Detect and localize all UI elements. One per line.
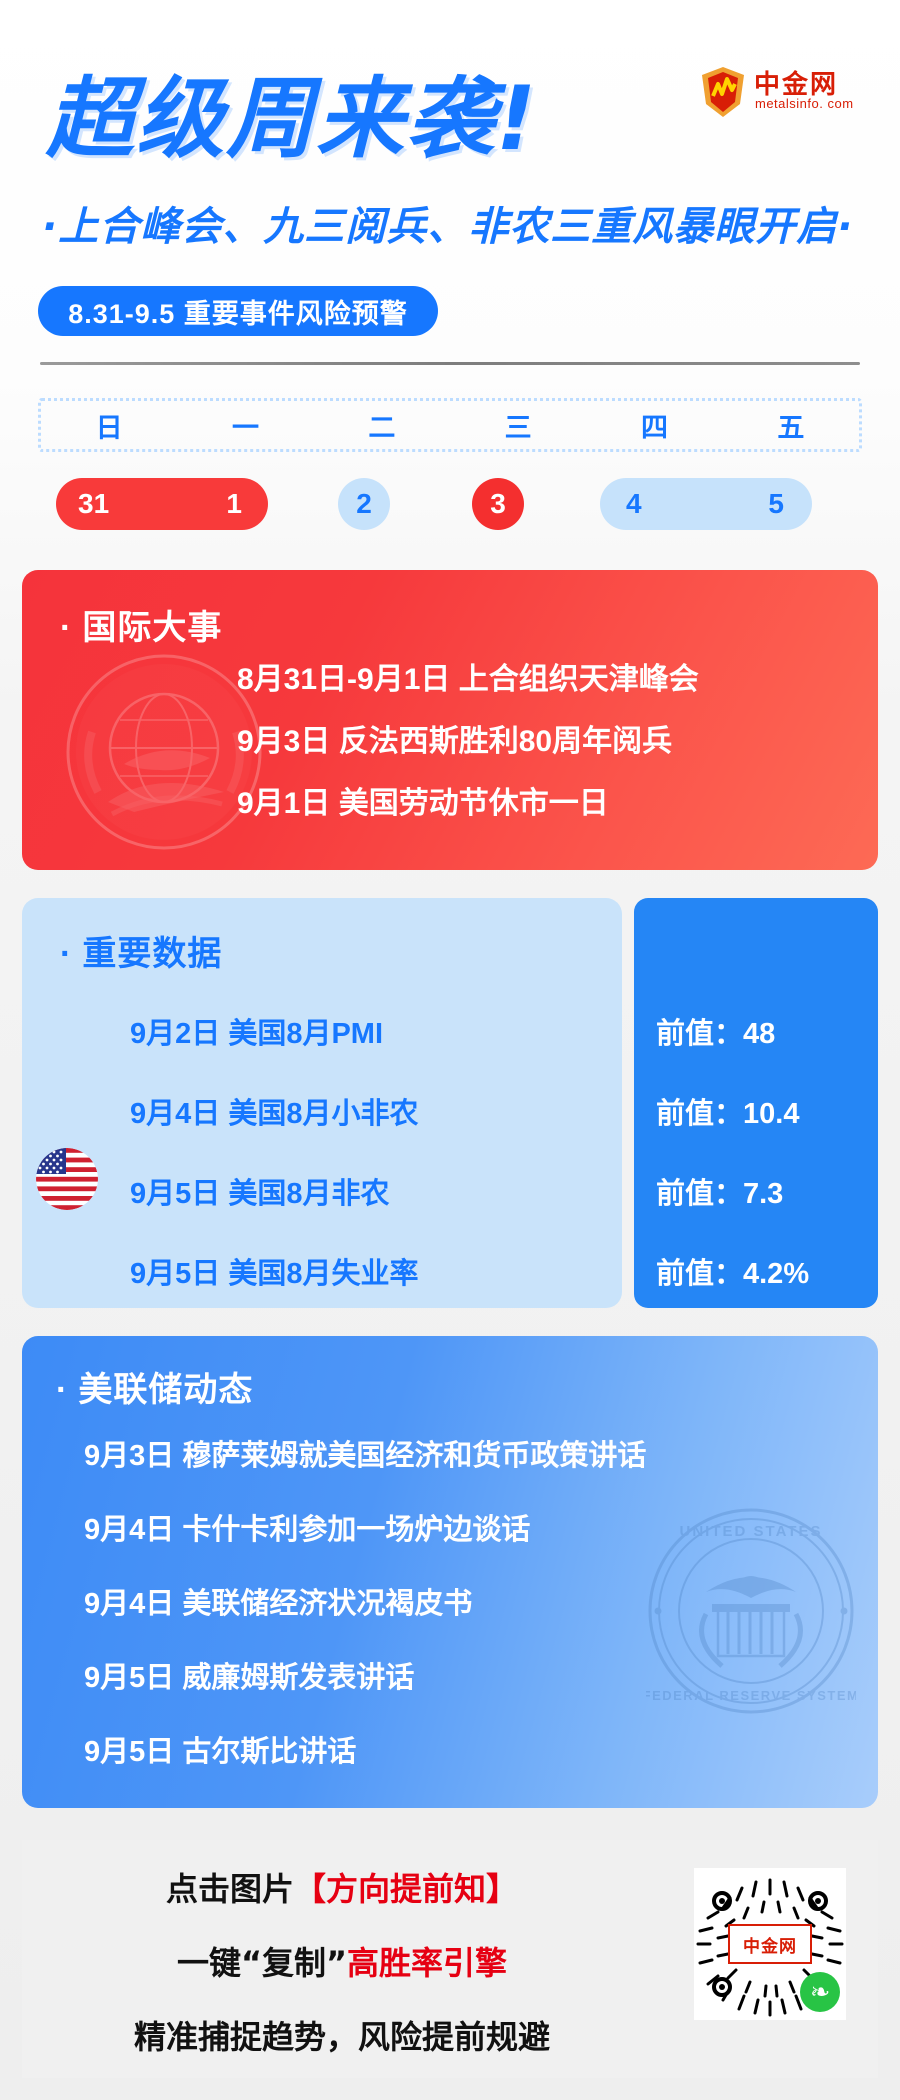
data-event-list: 9月2日 美国8月PMI 9月4日 美国8月小非农 9月5日 美国8月非农 9月… xyxy=(130,1010,418,1308)
list-item: 9月5日 古尔斯比讲话 xyxy=(84,1728,646,1770)
weekday-wed: 三 xyxy=(450,406,586,445)
list-item: 9月2日 美国8月PMI xyxy=(130,1010,418,1052)
calendar-day-4-5[interactable]: 4 5 xyxy=(600,478,812,530)
list-item: 前值：10.4 xyxy=(656,1090,809,1132)
footer-copy: 点击图片【方向提前知】 一键“复制”高胜率引擎 精准捕捉趋势，风险提前规避 xyxy=(62,1864,622,2058)
list-item: 9月4日 卡什卡利参加一场炉边谈话 xyxy=(84,1506,646,1548)
weekday-thu: 四 xyxy=(586,406,722,445)
calendar-day-1: 1 xyxy=(226,488,242,520)
footer-line-1-prefix: 点击图片 xyxy=(166,1870,294,1908)
list-item: 前值：48 xyxy=(656,1010,809,1052)
list-item: 9月3日 穆萨莱姆就美国经济和货币政策讲话 xyxy=(84,1432,646,1474)
sco-emblem-icon xyxy=(64,652,264,852)
calendar-day-5: 5 xyxy=(768,488,784,520)
svg-text:FEDERAL RESERVE SYSTEM: FEDERAL RESERVE SYSTEM xyxy=(646,1688,856,1703)
list-item: 9月4日 美联储经济状况褐皮书 xyxy=(84,1580,646,1622)
footer-line-1: 点击图片【方向提前知】 xyxy=(62,1864,622,1910)
wechat-miniprogram-icon: ❧ xyxy=(800,1972,840,2012)
list-item: 9月5日 威廉姆斯发表讲话 xyxy=(84,1654,646,1696)
footer-line-2-highlight: 高胜率引擎 xyxy=(347,1944,507,1982)
calendar-day-31-1[interactable]: 31 1 xyxy=(56,478,268,530)
fed-event-list: 9月3日 穆萨莱姆就美国经济和货币政策讲话 9月4日 卡什卡利参加一场炉边谈话 … xyxy=(84,1432,646,1802)
section-title-fed: 美联储动态 xyxy=(56,1362,253,1411)
header: 超级周来袭! ·上合峰会、九三阅兵、非农三重风暴眼开启· 中金网 metalsi… xyxy=(0,0,900,290)
list-item: 9月4日 美国8月小非农 xyxy=(130,1090,418,1132)
weekday-sun: 日 xyxy=(41,406,177,445)
page-subtitle: ·上合峰会、九三阅兵、非农三重风暴眼开启· xyxy=(42,194,853,252)
header-divider xyxy=(40,362,860,365)
footer: 点击图片【方向提前知】 一键“复制”高胜率引擎 精准捕捉趋势，风险提前规避 xyxy=(22,1840,878,2078)
list-item: 9月5日 美国8月非农 xyxy=(130,1170,418,1212)
list-item: 9月3日 反法西斯胜利80周年阅兵 xyxy=(237,727,857,757)
international-event-list: 8月31日-9月1日 上合组织天津峰会 9月3日 反法西斯胜利80周年阅兵 9月… xyxy=(237,665,857,851)
calendar-day-4: 4 xyxy=(626,488,642,520)
svg-text:UNITED STATES: UNITED STATES xyxy=(680,1523,823,1540)
list-item: 前值：7.3 xyxy=(656,1170,809,1212)
date-range-badge: 8.31-9.5 重要事件风险预警 xyxy=(38,286,438,336)
brand-logo: 中金网 metalsinfo. com xyxy=(700,62,870,132)
qr-center-logo: 中金网 xyxy=(728,1924,812,1964)
calendar-day-2[interactable]: 2 xyxy=(338,478,390,530)
card-fed-events: UNITED STATES FEDERAL RESERVE SYSTEM 美联储… xyxy=(22,1336,878,1808)
brand-domain: metalsinfo. com xyxy=(755,96,854,111)
card-important-data: 重要数据 9月2日 美国8月PMI 9月4日 美国8月小非农 9月5日 美国8月… xyxy=(22,898,622,1308)
us-flag-icon xyxy=(36,1148,98,1210)
footer-line-3: 精准捕捉趋势，风险提前规避 xyxy=(62,2012,622,2058)
weekday-tue: 二 xyxy=(314,406,450,445)
list-item: 前值：4.2% xyxy=(656,1250,809,1292)
federal-reserve-seal-icon: UNITED STATES FEDERAL RESERVE SYSTEM xyxy=(646,1506,856,1716)
card-international-events: 国际大事 8月31日-9月1日 上合组织天津峰会 9月3日 反法西斯胜利80周年… xyxy=(22,570,878,870)
card-previous-values: 前值：48 前值：10.4 前值：7.3 前值：4.2% xyxy=(634,898,878,1308)
previous-value-list: 前值：48 前值：10.4 前值：7.3 前值：4.2% xyxy=(656,1010,809,1308)
weekday-fri: 五 xyxy=(723,406,859,445)
footer-line-2-prefix: 一键“复制” xyxy=(177,1944,347,1982)
section-title-international: 国际大事 xyxy=(60,600,222,649)
footer-line-1-highlight: 【方向提前知】 xyxy=(294,1870,518,1908)
list-item: 8月31日-9月1日 上合组织天津峰会 xyxy=(237,665,857,695)
page-title: 超级周来袭! xyxy=(46,48,538,175)
list-item: 9月1日 美国劳动节休市一日 xyxy=(237,789,857,819)
shield-logo-icon xyxy=(700,66,746,118)
calendar-weekday-header: 日 一 二 三 四 五 xyxy=(38,398,862,452)
section-title-data: 重要数据 xyxy=(60,926,222,975)
list-item: 9月5日 美国8月失业率 xyxy=(130,1250,418,1292)
qr-code[interactable]: 中金网 ❧ xyxy=(694,1868,846,2020)
footer-line-2: 一键“复制”高胜率引擎 xyxy=(62,1938,622,1984)
calendar-day-31: 31 xyxy=(78,488,109,520)
weekday-mon: 一 xyxy=(177,406,313,445)
calendar-day-row: 31 1 2 3 4 5 xyxy=(38,478,862,530)
poster-root: 超级周来袭! ·上合峰会、九三阅兵、非农三重风暴眼开启· 中金网 metalsi… xyxy=(0,0,900,2100)
calendar-day-3[interactable]: 3 xyxy=(472,478,524,530)
